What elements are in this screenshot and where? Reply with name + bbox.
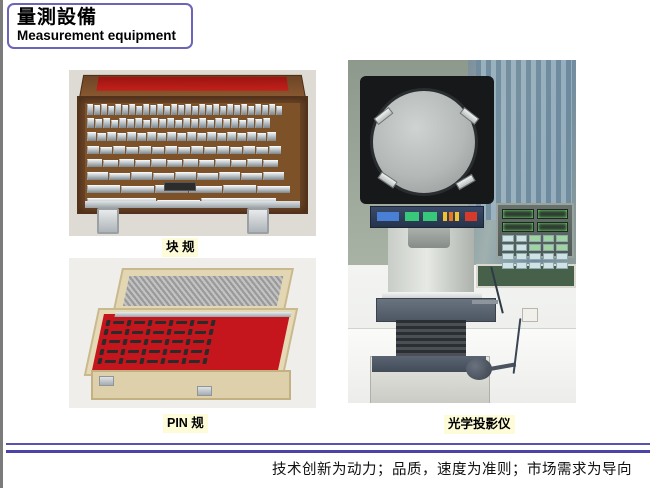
pin-row xyxy=(101,339,280,345)
projector-bellows xyxy=(396,320,466,358)
panel-button xyxy=(465,212,477,221)
panel-indicator xyxy=(455,212,459,221)
stage-micrometer-handle xyxy=(472,300,498,304)
case-latch-right xyxy=(247,208,269,234)
block-row xyxy=(87,117,298,128)
block-tray xyxy=(85,103,300,207)
case-rail xyxy=(85,201,300,208)
panel-readout xyxy=(405,212,419,221)
pin-row xyxy=(99,349,278,355)
photo-gauge-block-set xyxy=(69,70,316,236)
page-title-chinese: 量測設備 xyxy=(17,7,191,28)
dro-display-row xyxy=(502,209,568,219)
case-hinge-rail xyxy=(114,312,291,317)
dro-axis-display xyxy=(537,209,569,219)
caption-pin-gauge-set: PIN 规 xyxy=(163,414,208,433)
digital-readout-unit xyxy=(496,203,574,258)
block-row xyxy=(87,130,298,141)
page-title-english: Measurement equipment xyxy=(17,28,191,44)
panel-indicator xyxy=(443,212,447,221)
pin-row xyxy=(97,358,276,364)
case-nameplate xyxy=(164,182,196,191)
slide-canvas: 量測設備 Measurement equipment xyxy=(0,0,650,488)
red-foam-tray xyxy=(92,314,290,370)
wall-socket xyxy=(522,308,538,322)
footer-rule-top xyxy=(6,443,650,445)
lid-foam-lining xyxy=(123,276,283,306)
footer-slogan: 技术创新为动力；品质，速度为准则；市场需求为导向 xyxy=(3,458,646,479)
case-latch-right xyxy=(197,386,212,396)
pin-row xyxy=(105,320,284,326)
lid-felt-lining xyxy=(97,77,288,91)
footer-rule-bottom xyxy=(6,450,650,453)
photo-optical-projector xyxy=(348,60,576,403)
panel-display xyxy=(377,212,399,221)
case-latch-left xyxy=(99,376,114,386)
pin-row xyxy=(103,329,282,335)
case-front-panel xyxy=(91,370,291,400)
case-latch-left xyxy=(97,208,119,234)
block-row xyxy=(87,143,298,154)
dro-axis-display xyxy=(537,222,569,232)
projector-control-panel xyxy=(370,206,484,228)
caption-optical-projector: 光学投影仪 xyxy=(444,415,515,434)
photo-pin-gauge-set xyxy=(69,258,316,408)
panel-readout xyxy=(423,212,437,221)
dro-keypad xyxy=(502,235,568,269)
block-row xyxy=(87,104,298,115)
slide-title-box: 量測設備 Measurement equipment xyxy=(7,3,193,49)
panel-indicator xyxy=(449,212,453,221)
dro-display-row xyxy=(502,222,568,232)
wooden-case-body xyxy=(77,96,308,214)
block-row xyxy=(87,156,298,167)
wooden-case-body xyxy=(84,308,298,376)
dro-axis-display xyxy=(502,209,534,219)
block-row xyxy=(87,169,298,180)
dro-axis-display xyxy=(502,222,534,232)
caption-gauge-block-set: 块 规 xyxy=(162,238,198,257)
